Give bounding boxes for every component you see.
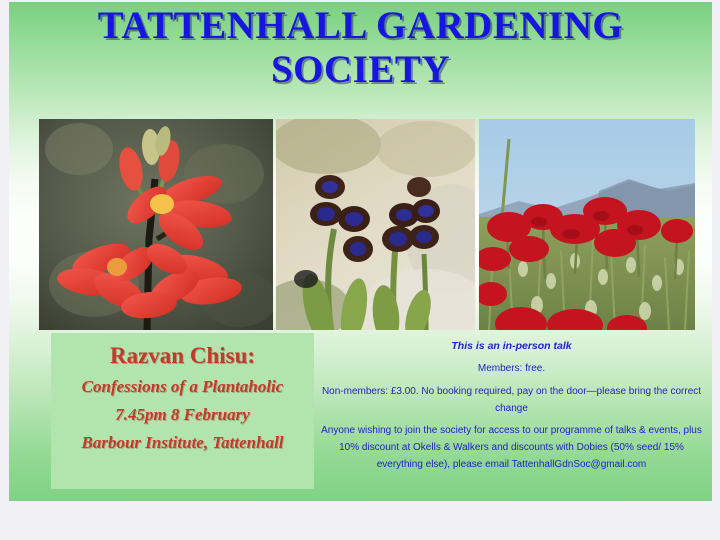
speaker-panel: Razvan Chisu: Confessions of a Plantahol… — [51, 333, 314, 489]
membership-info: Anyone wishing to join the society for a… — [319, 422, 704, 473]
event-details: This is an in-person talk Members: free.… — [319, 338, 704, 478]
talk-venue: Barbour Institute, Tattenhall — [51, 429, 314, 457]
red-orchid-photo — [39, 119, 273, 330]
talk-title: Confessions of a Plantaholic — [51, 373, 314, 401]
poppy-field-illustration — [479, 119, 695, 330]
members-price: Members: free. — [319, 360, 704, 377]
page-title: TATTENHALL GARDENING SOCIETY — [9, 4, 712, 92]
mirror-orchid-photo — [276, 119, 475, 330]
poster-slide: TATTENHALL GARDENING SOCIETY — [9, 2, 712, 501]
mirror-orchid-illustration — [276, 119, 475, 330]
poppy-field-photo — [479, 119, 695, 330]
speaker-name: Razvan Chisu: — [51, 339, 314, 373]
non-members-price: Non-members: £3.00. No booking required,… — [319, 383, 704, 417]
talk-time: 7.45pm 8 February — [51, 401, 314, 429]
red-orchid-illustration — [39, 119, 273, 330]
in-person-headline: This is an in-person talk — [319, 338, 704, 355]
